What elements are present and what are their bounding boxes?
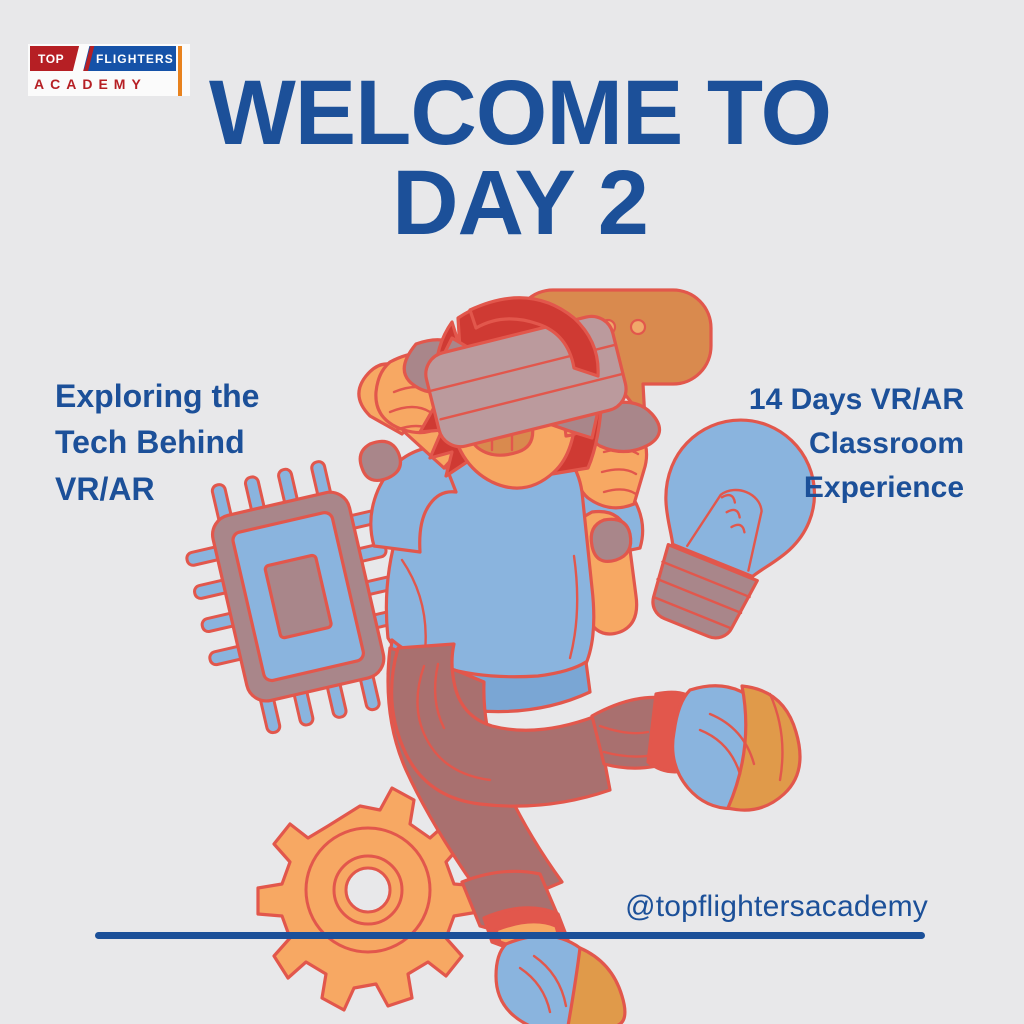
logo-accent-bar (178, 46, 182, 96)
right-caption: 14 Days VR/AR Classroom Experience (664, 378, 964, 510)
headline-line-2: DAY 2 (190, 158, 850, 248)
sneaker-icon (648, 686, 800, 810)
character-head (449, 339, 584, 488)
logo-bottom-row: ACADEMY (28, 71, 190, 96)
sneaker-icon (484, 908, 625, 1024)
logo-top-row: TOP FLIGHTERS (28, 44, 190, 71)
character-hair-back (420, 299, 602, 476)
character-torso (386, 429, 593, 711)
brand-logo[interactable]: TOP FLIGHTERS ACADEMY (28, 44, 190, 96)
character-hair-front (470, 298, 598, 376)
logo-blue-block (84, 46, 176, 71)
page-title: WELCOME TO DAY 2 (190, 68, 850, 248)
poster-canvas: .ol { stroke:#e2574c; stroke-width:3.2; … (0, 0, 1024, 1024)
character-back-leg (388, 648, 625, 1024)
social-handle[interactable]: @topflightersacademy (625, 890, 928, 924)
left-caption: Exploring the Tech Behind VR/AR (55, 373, 325, 512)
gear-icon (258, 788, 478, 1010)
footer-divider (95, 932, 925, 939)
character-left-arm (359, 340, 478, 552)
logo-word-academy: ACADEMY (34, 76, 147, 92)
character-right-arm (546, 402, 660, 634)
headline-line-1: WELCOME TO (209, 62, 831, 164)
character-front-leg (392, 644, 800, 810)
vr-headset-icon (421, 312, 631, 452)
logo-blocks: TOP FLIGHTERS (30, 46, 176, 71)
